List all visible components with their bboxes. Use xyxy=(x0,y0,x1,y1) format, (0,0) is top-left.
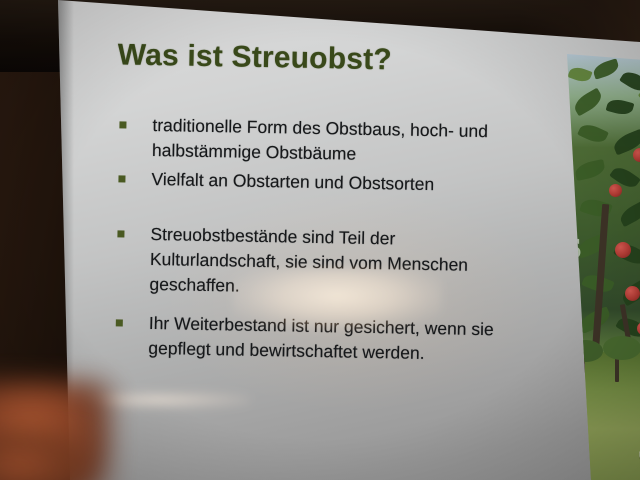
bullet-square-icon xyxy=(119,121,126,128)
bullet-square-icon xyxy=(117,230,124,237)
slide-bullet-list: traditionelle Form des Obstbaus, hoch- u… xyxy=(112,112,517,371)
bullet-text: Vielfalt an Obstarten und Obstsorten xyxy=(151,167,515,199)
bullet-item-2: Vielfalt an Obstarten und Obstsorten xyxy=(115,166,515,198)
bullet-text: Ihr Weiterbestand ist nur gesichert, wen… xyxy=(148,311,513,368)
bullet-item-3: Streuobstbestände sind Teil der Kulturla… xyxy=(113,221,514,303)
bullet-text: Streuobstbestände sind Teil der Kulturla… xyxy=(149,222,514,304)
bullet-square-icon xyxy=(116,319,123,326)
slide-title: Was ist Streuobst? xyxy=(117,38,392,77)
bullet-item-4: Ihr Weiterbestand ist nur gesichert, wen… xyxy=(112,310,513,367)
bullet-item-1: traditionelle Form des Obstbaus, hoch- u… xyxy=(116,112,517,169)
bullet-text: traditionelle Form des Obstbaus, hoch- u… xyxy=(152,113,517,170)
foreground-blurred-person-secondary xyxy=(0,430,90,480)
bullet-square-icon xyxy=(118,175,125,182)
screenshot-root: Was ist Streuobst? traditionelle Form de… xyxy=(0,0,640,480)
